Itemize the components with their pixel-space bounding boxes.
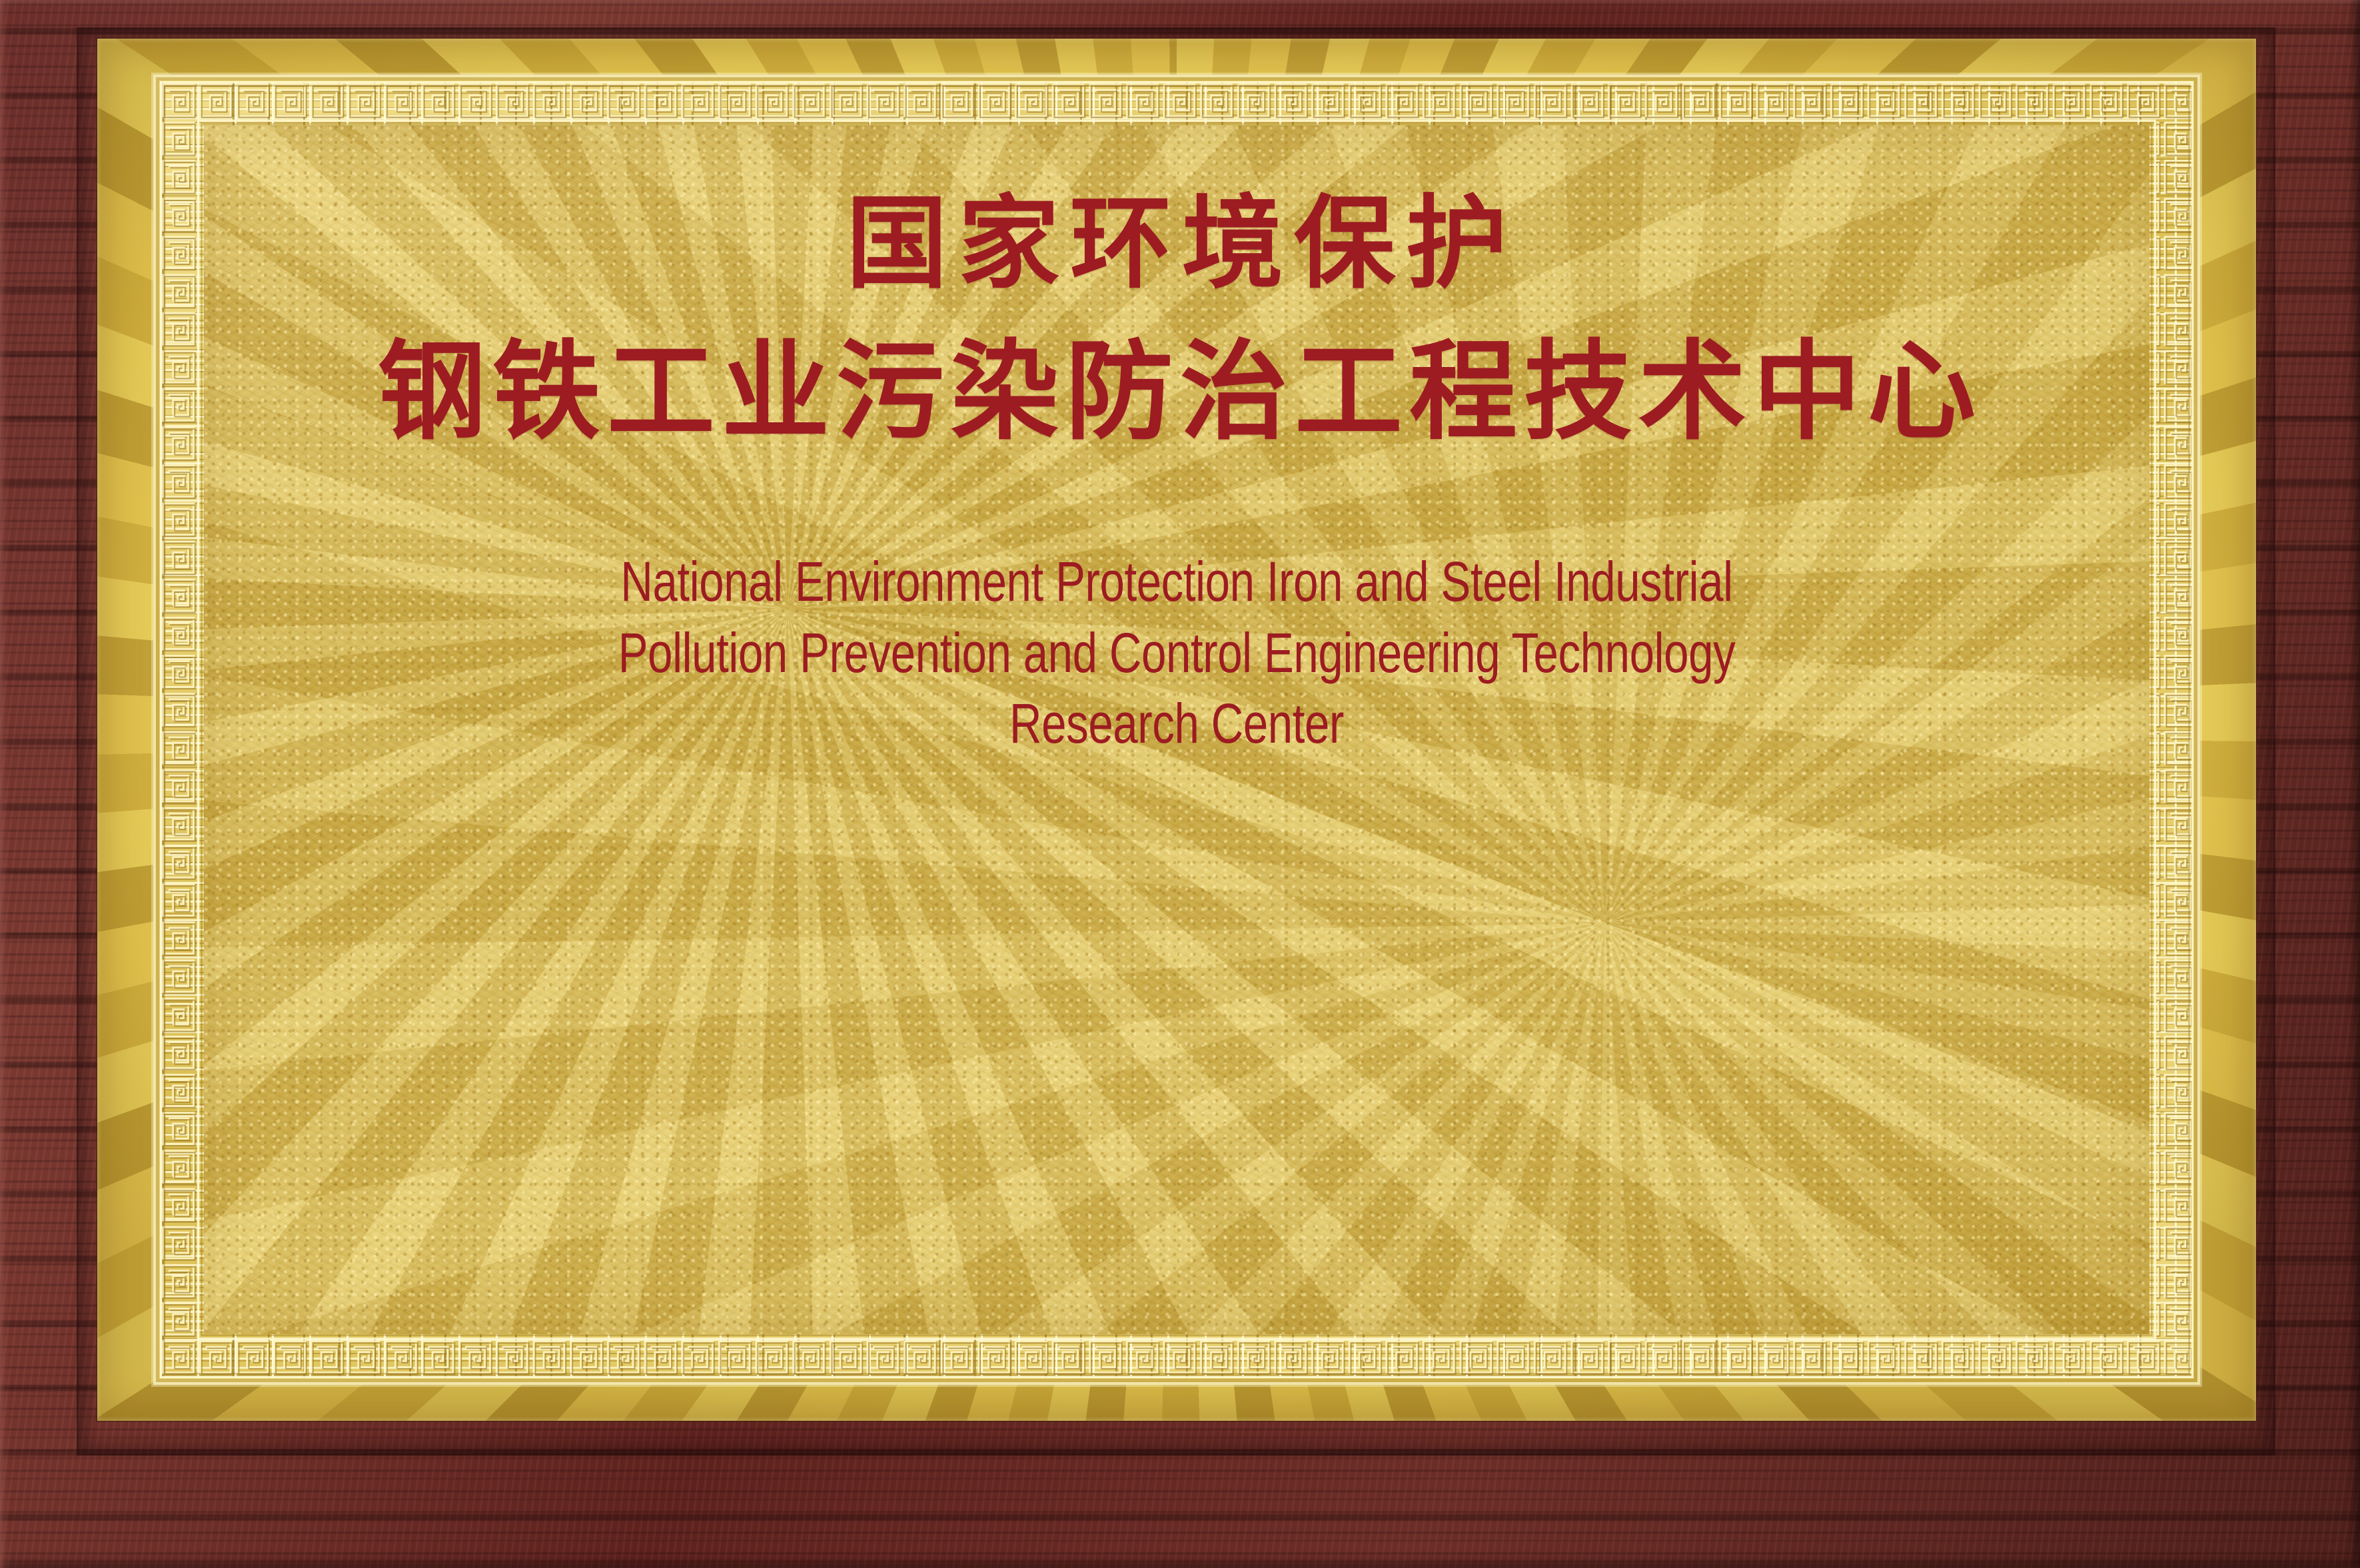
english-subtitle: National Environment Protection Iron and… xyxy=(398,546,1955,759)
award-plaque: 国家环境保护 钢铁工业污染防治工程技术中心 National Environme… xyxy=(0,0,2360,1568)
chinese-title-line-2: 钢铁工业污染防治工程技术中心 xyxy=(378,338,1982,446)
chinese-title-line-1: 国家环境保护 xyxy=(846,193,1518,294)
inscription-panel: 国家环境保护 钢铁工业污染防治工程技术中心 National Environme… xyxy=(204,125,2149,1334)
gold-plate: 国家环境保护 钢铁工业污染防治工程技术中心 National Environme… xyxy=(97,39,2256,1421)
english-subtitle-line-3: Research Center xyxy=(398,688,1955,759)
inscription-text-stack: 国家环境保护 钢铁工业污染防治工程技术中心 National Environme… xyxy=(204,125,2149,1334)
english-subtitle-line-1: National Environment Protection Iron and… xyxy=(398,546,1955,617)
english-subtitle-line-2: Pollution Prevention and Control Enginee… xyxy=(398,617,1955,689)
